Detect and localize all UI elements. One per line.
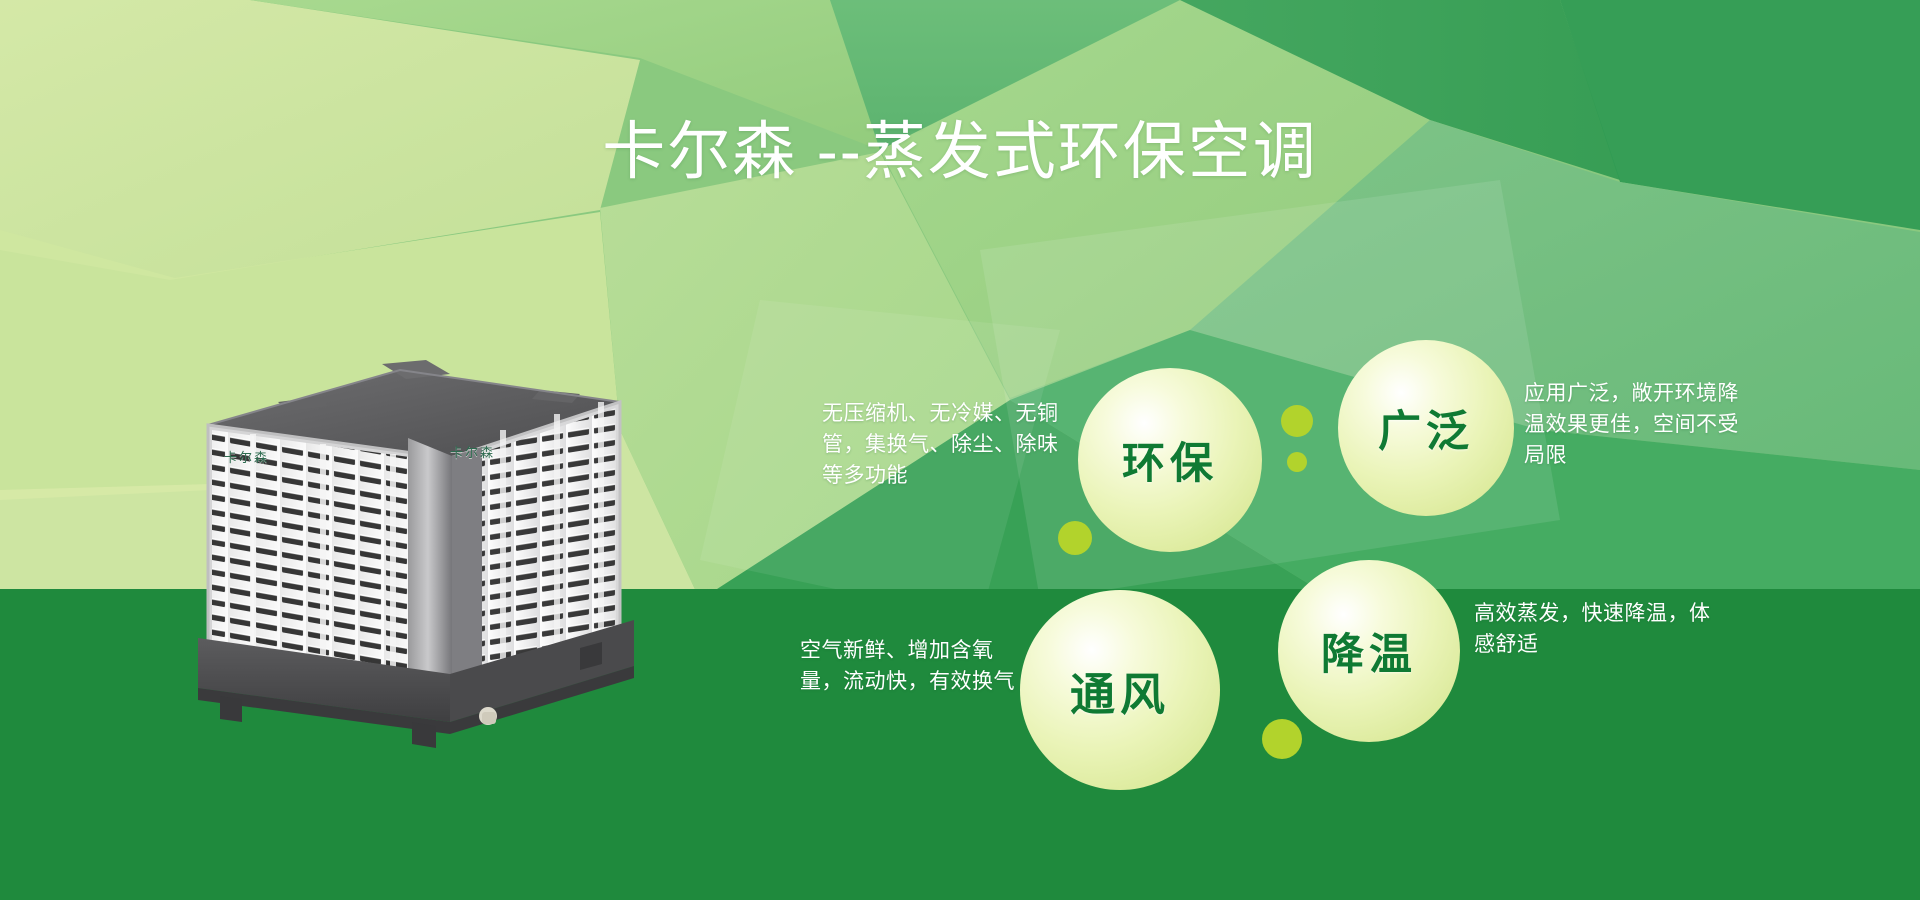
feature-description-huanbao: 无压缩机、无冷媒、无铜管，集换气、除尘、除味等多功能: [822, 398, 1062, 491]
feature-circle-huanbao: 环保: [1078, 368, 1262, 552]
feature-circle-jiangwen: 降温: [1278, 560, 1460, 742]
feature-description-tongfeng: 空气新鲜、增加含氧量，流动快，有效换气: [800, 635, 1015, 697]
banner-title: 卡尔森 --蒸发式环保空调: [0, 118, 1920, 186]
promo-banner: 卡尔森 --蒸发式环保空调: [0, 0, 1920, 900]
decorative-dot-icon: [1262, 719, 1302, 759]
feature-description-jiangwen: 高效蒸发，快速降温，体感舒适: [1474, 598, 1724, 660]
decorative-dot-icon: [1058, 521, 1092, 555]
decorative-dot-icon: [1287, 452, 1307, 472]
feature-circle-guangfan: 广泛: [1338, 340, 1514, 516]
feature-circle-label: 广泛: [1378, 397, 1474, 459]
feature-circle-label: 降温: [1321, 620, 1417, 682]
product-image: 卡尔森 卡尔森: [150, 330, 670, 750]
feature-circle-label: 通风: [1070, 658, 1170, 723]
feature-circle-label: 环保: [1122, 429, 1218, 491]
decorative-dot-icon: [1281, 405, 1313, 437]
feature-description-guangfan: 应用广泛，敞开环境降温效果更佳，空间不受局限: [1524, 378, 1754, 471]
feature-circle-tongfeng: 通风: [1020, 590, 1220, 790]
